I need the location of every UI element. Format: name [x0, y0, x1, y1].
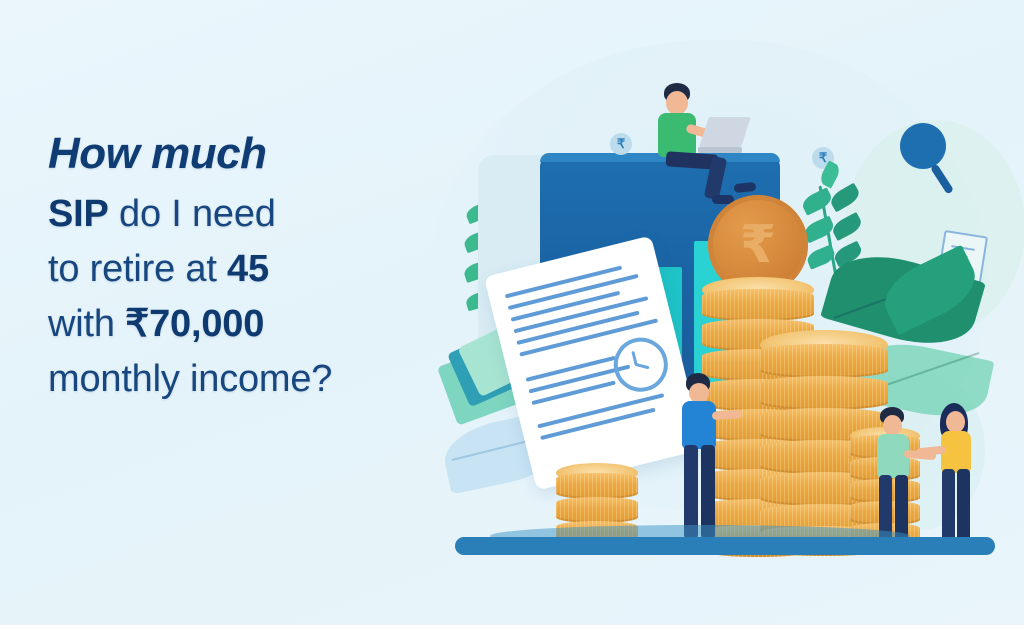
person-torso [682, 401, 716, 449]
person-yellow-top [930, 403, 994, 559]
headline-line-4: with ₹70,000 [48, 305, 428, 343]
headline-line-3: to retire at 45 [48, 250, 428, 288]
laptop-base [698, 147, 742, 153]
person-torso [941, 431, 971, 473]
person-head [689, 383, 709, 403]
bottom-strip [0, 625, 1024, 630]
magnifier-icon [900, 123, 946, 169]
person-head [666, 91, 688, 115]
person-with-laptop [642, 83, 762, 193]
person-torso [658, 113, 696, 157]
ground-platform [455, 537, 995, 555]
headline-sip-emphasis: SIP [48, 193, 109, 235]
laptop-screen [699, 117, 751, 147]
headline-block: How much SIP do I need to retire at 45 w… [48, 132, 428, 398]
magnifier-handle-icon [930, 163, 954, 194]
clock-icon [608, 332, 673, 397]
headline-line-4-rest: with [48, 303, 125, 345]
rupee-badge-label: ₹ [617, 136, 625, 152]
person-head [883, 415, 902, 436]
headline-line-2-rest: do I need [109, 193, 276, 235]
headline-amount-emphasis: ₹70,000 [125, 303, 264, 345]
headline-line-2: SIP do I need [48, 195, 428, 233]
headline-age-emphasis: 45 [227, 248, 269, 290]
headline-line-1: How much [48, 132, 428, 176]
person-arm [712, 410, 742, 420]
person-head [946, 411, 965, 433]
headline-line-5: monthly income? [48, 360, 428, 398]
rupee-badge-icon: ₹ [610, 133, 632, 155]
headline-line-3-rest: to retire at [48, 248, 227, 290]
person-shoe [734, 182, 757, 193]
illustration: ₹ ₹ [430, 55, 1024, 565]
poster-canvas: How much SIP do I need to retire at 45 w… [0, 0, 1024, 630]
